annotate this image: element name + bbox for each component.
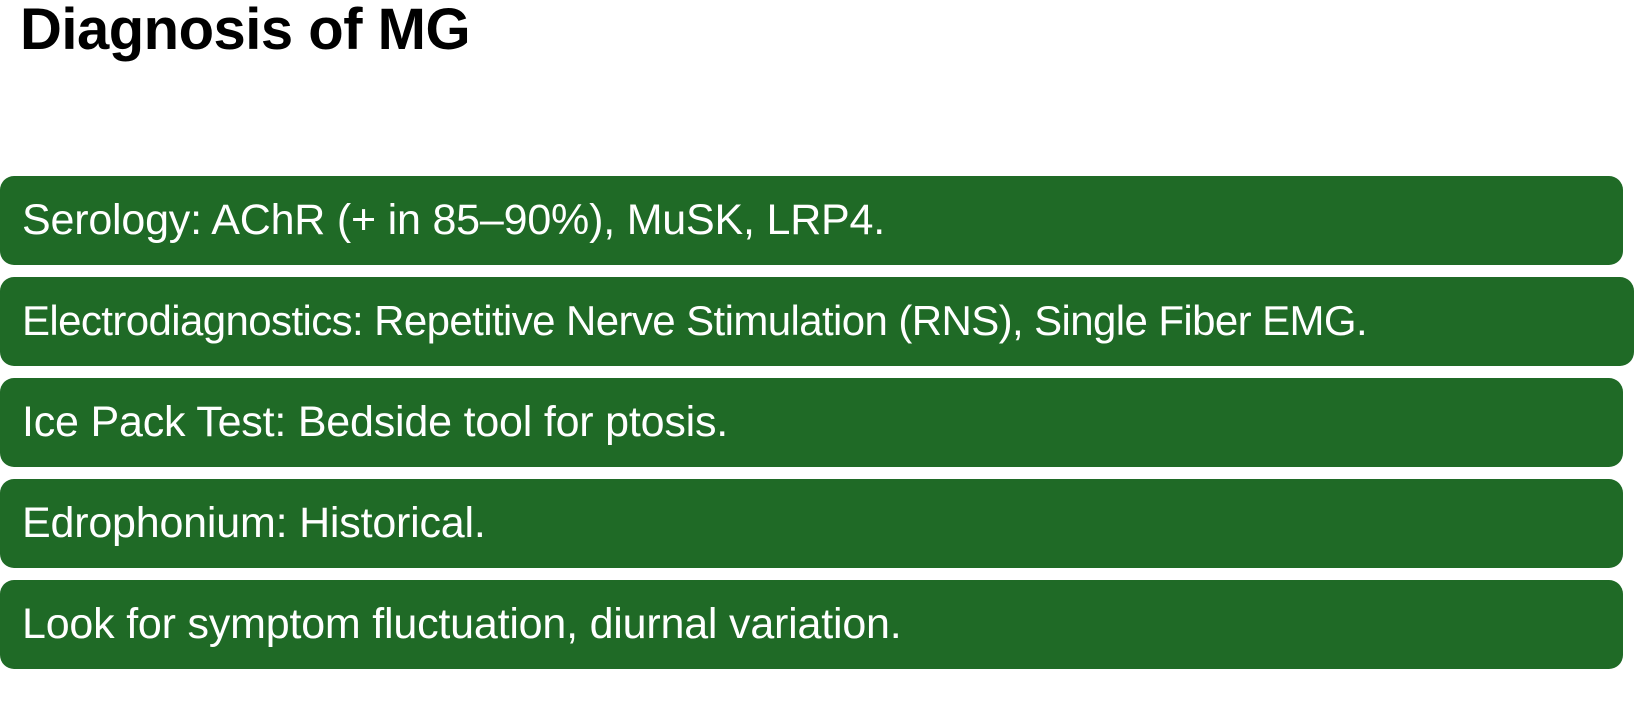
list-item[interactable]: Serology: AChR (+ in 85–90%), MuSK, LRP4… — [0, 176, 1623, 265]
list-item[interactable]: Look for symptom fluctuation, diurnal va… — [0, 580, 1623, 669]
slide-canvas: Diagnosis of MG Serology: AChR (+ in 85–… — [0, 0, 1634, 713]
bullet-bar-list: Serology: AChR (+ in 85–90%), MuSK, LRP4… — [0, 176, 1634, 681]
bullet-bar-label: Look for symptom fluctuation, diurnal va… — [22, 602, 902, 647]
bullet-bar-label: Serology: AChR (+ in 85–90%), MuSK, LRP4… — [22, 198, 885, 243]
bullet-bar-label: Edrophonium: Historical. — [22, 501, 486, 546]
list-item[interactable]: Ice Pack Test: Bedside tool for ptosis. — [0, 378, 1623, 467]
bullet-bar-label: Ice Pack Test: Bedside tool for ptosis. — [22, 400, 728, 445]
bullet-bar-label: Electrodiagnostics: Repetitive Nerve Sti… — [22, 299, 1367, 343]
page-title: Diagnosis of MG — [20, 0, 470, 62]
list-item[interactable]: Edrophonium: Historical. — [0, 479, 1623, 568]
list-item[interactable]: Electrodiagnostics: Repetitive Nerve Sti… — [0, 277, 1634, 366]
